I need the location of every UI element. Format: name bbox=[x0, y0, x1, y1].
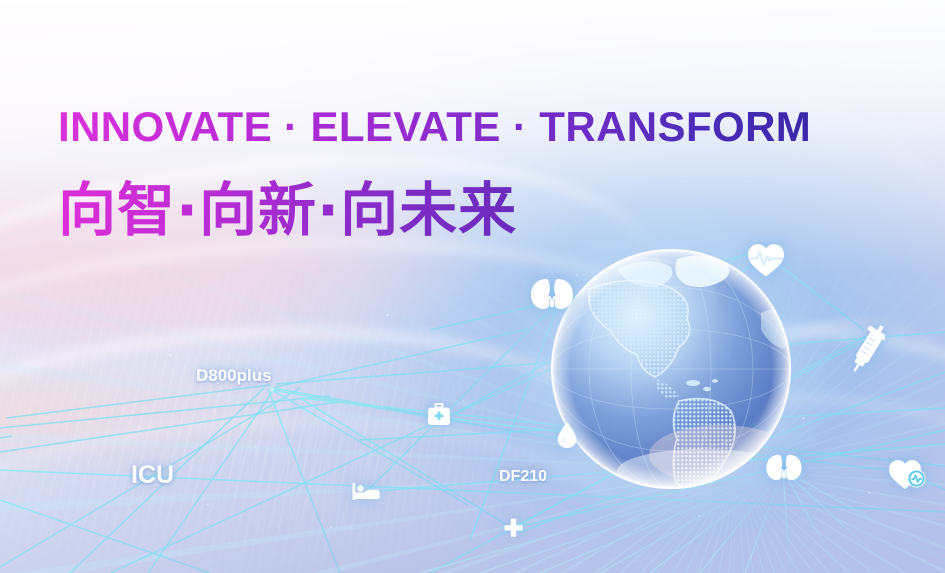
heart-pulse-icon bbox=[747, 243, 785, 277]
globe-graphic bbox=[545, 243, 797, 495]
kidney-icon bbox=[527, 276, 577, 316]
earth-globe bbox=[545, 243, 797, 495]
headline-english: INNOVATE · ELEVATE · TRANSFORM bbox=[58, 103, 811, 151]
device-label-df210: DF210 bbox=[499, 468, 547, 486]
medical-cross-icon bbox=[503, 518, 524, 539]
device-label-d800plus: D800plus bbox=[196, 366, 272, 386]
headline-chinese: 向智·向新·向未来 bbox=[58, 163, 517, 247]
hospital-bed-icon bbox=[352, 481, 380, 501]
medical-kit-icon bbox=[427, 403, 451, 426]
blood-droplet-icon bbox=[556, 421, 578, 449]
device-label-icu: ICU bbox=[131, 461, 174, 490]
hero-banner: INNOVATE · ELEVATE · TRANSFORM 向智·向新·向未来… bbox=[0, 0, 945, 573]
heart-monitor-icon bbox=[887, 455, 927, 491]
syringe-icon bbox=[851, 322, 885, 376]
kidney-icon bbox=[763, 452, 805, 486]
